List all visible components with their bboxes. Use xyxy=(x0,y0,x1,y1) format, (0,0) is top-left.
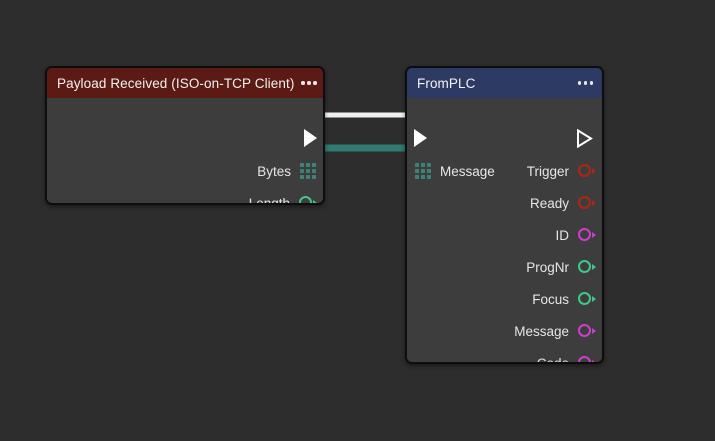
node-payload-title: Payload Received (ISO-on-TCP Client) xyxy=(57,76,294,91)
port-row-message-out: Message xyxy=(407,320,602,342)
port-row-focus: Focus xyxy=(407,288,602,310)
port-label-focus: Focus xyxy=(532,292,569,307)
port-label-ready: Ready xyxy=(530,196,569,211)
node-payload-received[interactable]: Payload Received (ISO-on-TCP Client) Byt… xyxy=(45,66,325,205)
port-bytes[interactable]: Bytes xyxy=(257,163,316,179)
port-length[interactable]: Length xyxy=(249,196,317,206)
ellipsis-icon[interactable] xyxy=(578,81,594,85)
port-exec-out[interactable] xyxy=(304,129,317,147)
node-fromplc-title: FromPLC xyxy=(417,76,475,91)
node-payload-body: Bytes Length xyxy=(47,98,323,203)
circle-port-icon[interactable] xyxy=(578,292,596,307)
node-fromplc-titlebar[interactable]: FromPLC xyxy=(407,68,602,98)
port-message-in[interactable]: Message xyxy=(415,163,495,179)
node-fromplc[interactable]: FromPLC xyxy=(405,66,604,364)
circle-port-icon[interactable] xyxy=(299,196,317,206)
port-label-bytes: Bytes xyxy=(257,164,291,179)
circle-port-icon[interactable] xyxy=(578,196,596,211)
port-prognr[interactable]: ProgNr xyxy=(526,260,596,275)
grid-array-icon[interactable] xyxy=(415,163,431,179)
port-ready[interactable]: Ready xyxy=(530,196,596,211)
port-trigger[interactable]: Trigger xyxy=(527,164,596,179)
port-label-code: Code xyxy=(537,356,569,365)
port-row-length: Length xyxy=(47,192,323,205)
port-exec-in[interactable] xyxy=(414,129,427,147)
port-row-exec-out xyxy=(47,127,323,149)
port-code[interactable]: Code xyxy=(537,356,596,365)
port-row-id: ID xyxy=(407,224,602,246)
grid-array-icon[interactable] xyxy=(300,163,316,179)
port-row-bytes: Bytes xyxy=(47,160,323,182)
circle-port-icon[interactable] xyxy=(578,260,596,275)
port-label-trigger: Trigger xyxy=(527,164,569,179)
exec-triangle-hollow-icon[interactable] xyxy=(576,129,594,148)
port-message-out[interactable]: Message xyxy=(514,324,596,339)
node-graph-canvas[interactable]: Payload Received (ISO-on-TCP Client) Byt… xyxy=(0,0,715,441)
port-label-prognr: ProgNr xyxy=(526,260,569,275)
exec-triangle-filled-icon[interactable] xyxy=(414,129,427,147)
node-payload-titlebar[interactable]: Payload Received (ISO-on-TCP Client) xyxy=(47,68,323,98)
port-row-prognr: ProgNr xyxy=(407,256,602,278)
port-id[interactable]: ID xyxy=(556,228,597,243)
port-row-exec xyxy=(407,127,602,149)
circle-port-icon[interactable] xyxy=(578,356,596,365)
port-label-id: ID xyxy=(556,228,570,243)
port-label-message-out: Message xyxy=(514,324,569,339)
circle-port-icon[interactable] xyxy=(578,164,596,179)
port-focus[interactable]: Focus xyxy=(532,292,596,307)
exec-triangle-filled-icon[interactable] xyxy=(304,129,317,147)
circle-port-icon[interactable] xyxy=(578,324,596,339)
port-label-length: Length xyxy=(249,196,290,206)
port-row-ready: Ready xyxy=(407,192,602,214)
ellipsis-icon[interactable] xyxy=(301,81,317,85)
port-row-code: Code xyxy=(407,352,602,364)
node-fromplc-body: Message Trigger Ready xyxy=(407,98,602,362)
port-exec-out[interactable] xyxy=(576,129,594,148)
port-label-message-in: Message xyxy=(440,164,495,179)
circle-port-icon[interactable] xyxy=(578,228,596,243)
port-row-message-trigger: Message Trigger xyxy=(407,160,602,182)
